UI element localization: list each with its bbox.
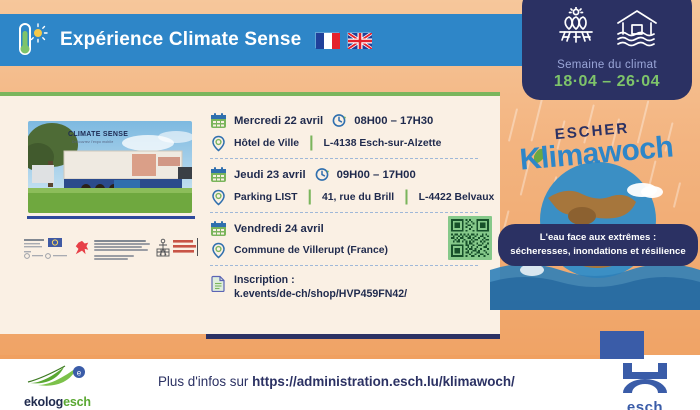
inscription-url[interactable]: k.events/de-ch/shop/HVP459FN42/ bbox=[234, 288, 407, 300]
klimawoch-branding: ESCHER Klimawoch L'eau face aux extrêmes… bbox=[490, 120, 700, 310]
map-pin-icon bbox=[210, 242, 227, 259]
esch-logo[interactable]: esch bbox=[614, 361, 676, 410]
page-title: Expérience Climate Sense bbox=[60, 29, 301, 51]
photo-subcaption: Découvrez l'expo mobile bbox=[72, 140, 113, 144]
address-separator: | bbox=[309, 134, 313, 152]
flooded-house-icon bbox=[614, 7, 660, 52]
address-separator: | bbox=[404, 188, 408, 206]
ekologesch-wordmark: ekologesch bbox=[24, 395, 98, 409]
tagline-line-2: sécheresses, inondations et résilience bbox=[510, 246, 685, 257]
schedule-date: Vendredi 24 avril bbox=[234, 223, 324, 235]
flag-france[interactable] bbox=[315, 32, 339, 48]
schedule-address-part: L-4422 Belvaux bbox=[419, 192, 495, 203]
schedule-divider bbox=[210, 158, 478, 159]
schedule-address-part: Commune de Villerupt (France) bbox=[234, 245, 388, 256]
schedule-address-row: Parking LIST | 41, rue du Brill | L-4422… bbox=[210, 188, 486, 206]
thermometer-sun-icon bbox=[14, 21, 48, 59]
clock-icon bbox=[315, 167, 330, 182]
inscription-block: Inscription : k.events/de-ch/shop/HVP459… bbox=[210, 273, 486, 302]
clock-icon bbox=[332, 113, 347, 128]
inscription-label: Inscription : bbox=[234, 274, 295, 286]
more-info-line: Plus d'infos sur https://administration.… bbox=[158, 374, 515, 389]
schedule-address-row: Commune de Villerupt (France) bbox=[210, 242, 486, 259]
schedule-divider bbox=[210, 212, 478, 213]
badge-label: Semaine du climat bbox=[557, 59, 657, 71]
calendar-icon bbox=[210, 220, 227, 237]
eko-text-green: esch bbox=[63, 395, 91, 409]
logo-gouvernement-luxembourg bbox=[94, 240, 150, 260]
klimawoch-tagline: L'eau face aux extrêmes : sécheresses, i… bbox=[498, 224, 698, 266]
info-card: CLIMATE SENSE Découvrez l'expo mobile bbox=[0, 92, 500, 334]
footer: e ekologesch Plus d'infos sur https://ad… bbox=[0, 355, 700, 410]
schedule-date: Jeudi 23 avril bbox=[234, 169, 306, 181]
logo-lion-luxembourg bbox=[74, 239, 90, 262]
header-banner: Expérience Climate Sense bbox=[0, 14, 560, 66]
more-info-prefix: Plus d'infos sur bbox=[158, 374, 252, 389]
schedule-date: Mercredi 22 avril bbox=[234, 115, 323, 127]
document-icon bbox=[210, 275, 227, 292]
qr-code[interactable] bbox=[448, 216, 492, 260]
poster-root: Expérience Climate Sense bbox=[0, 0, 700, 410]
map-pin-icon bbox=[210, 135, 227, 152]
eko-text-dark: ekolog bbox=[24, 395, 63, 409]
map-pin-icon bbox=[210, 189, 227, 206]
footer-blue-accent bbox=[600, 331, 644, 359]
ekologesch-logo[interactable]: e ekologesch bbox=[24, 363, 98, 409]
calendar-icon bbox=[210, 166, 227, 183]
esch-wordmark: esch bbox=[614, 399, 676, 410]
drought-plant-icon bbox=[554, 7, 598, 52]
address-separator: | bbox=[308, 188, 312, 206]
schedule-divider bbox=[210, 265, 478, 266]
footer-orange-accent bbox=[0, 355, 600, 359]
logo-human-adaptation-institute bbox=[154, 237, 200, 264]
tagline-line-1: L'eau face aux extrêmes : bbox=[540, 232, 656, 243]
svg-text:e: e bbox=[77, 369, 82, 378]
photo-underline bbox=[27, 216, 195, 219]
schedule-address-row: Hôtel de Ville | L-4138 Esch-sur-Alzette bbox=[210, 134, 486, 152]
calendar-icon bbox=[210, 112, 227, 129]
schedule-time: 08H00 – 17H30 bbox=[354, 115, 433, 127]
exhibition-photo: CLIMATE SENSE Découvrez l'expo mobile bbox=[28, 121, 192, 213]
schedule-address-part: Parking LIST bbox=[234, 192, 298, 203]
badge-dates: 18·04 – 26·04 bbox=[554, 73, 660, 91]
schedule-list: Mercredi 22 avril 08H00 – 17H30 bbox=[210, 112, 486, 302]
badge-icon-group bbox=[554, 7, 660, 52]
logo-interreg-eu bbox=[24, 237, 70, 264]
schedule-date-row: Vendredi 24 avril bbox=[210, 220, 486, 237]
schedule-date-row: Jeudi 23 avril 09H00 – 17H00 bbox=[210, 166, 486, 183]
more-info-url[interactable]: https://administration.esch.lu/klimawoch… bbox=[252, 374, 515, 389]
schedule-address-part: 41, rue du Brill bbox=[322, 192, 394, 203]
schedule-time: 09H00 – 17H00 bbox=[337, 169, 416, 181]
schedule-address-part: Hôtel de Ville bbox=[234, 138, 299, 149]
photo-caption: CLIMATE SENSE bbox=[68, 131, 128, 138]
climate-week-badge: Semaine du climat 18·04 – 26·04 bbox=[522, 0, 692, 100]
partner-logos bbox=[24, 232, 200, 268]
flag-uk[interactable] bbox=[347, 32, 371, 48]
schedule-address-part: L-4138 Esch-sur-Alzette bbox=[324, 138, 442, 149]
schedule-date-row: Mercredi 22 avril 08H00 – 17H30 bbox=[210, 112, 486, 129]
language-flags bbox=[315, 32, 371, 48]
